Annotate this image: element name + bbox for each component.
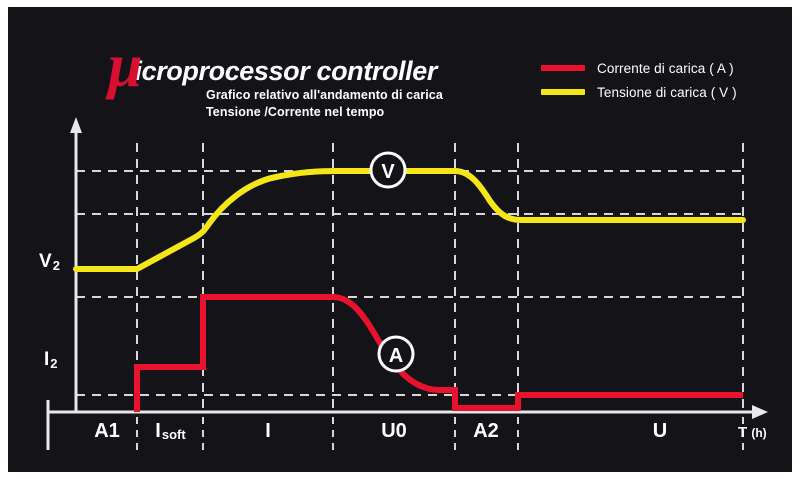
x-segment-label-isoft: Isoft bbox=[155, 420, 184, 443]
vertical-gridlines bbox=[137, 143, 743, 412]
x-segment-label-u: U bbox=[653, 420, 667, 443]
x-segment-label-a1: A1 bbox=[94, 420, 120, 443]
x-axis-arrow bbox=[752, 405, 768, 419]
current-marker-label: A bbox=[389, 345, 403, 367]
chart-screenshot: μicroprocessor controller Grafico relati… bbox=[0, 0, 800, 479]
y-axis-arrow bbox=[70, 117, 82, 133]
plot-area: V A bbox=[8, 7, 792, 472]
x-axis-title: T (h) bbox=[738, 424, 767, 441]
voltage-marker: V bbox=[371, 153, 405, 187]
x-segment-label-u0: U0 bbox=[381, 420, 407, 443]
x-segment-label-i: I bbox=[265, 420, 271, 443]
voltage-marker-label: V bbox=[381, 161, 395, 183]
current-marker: A bbox=[379, 337, 413, 371]
voltage-curve bbox=[76, 171, 743, 269]
y-tick-label-i2: I2 bbox=[44, 349, 57, 371]
y-tick-label-v2: V2 bbox=[39, 251, 59, 273]
chart-panel: μicroprocessor controller Grafico relati… bbox=[8, 7, 792, 472]
x-segment-label-a2: A2 bbox=[473, 420, 499, 443]
